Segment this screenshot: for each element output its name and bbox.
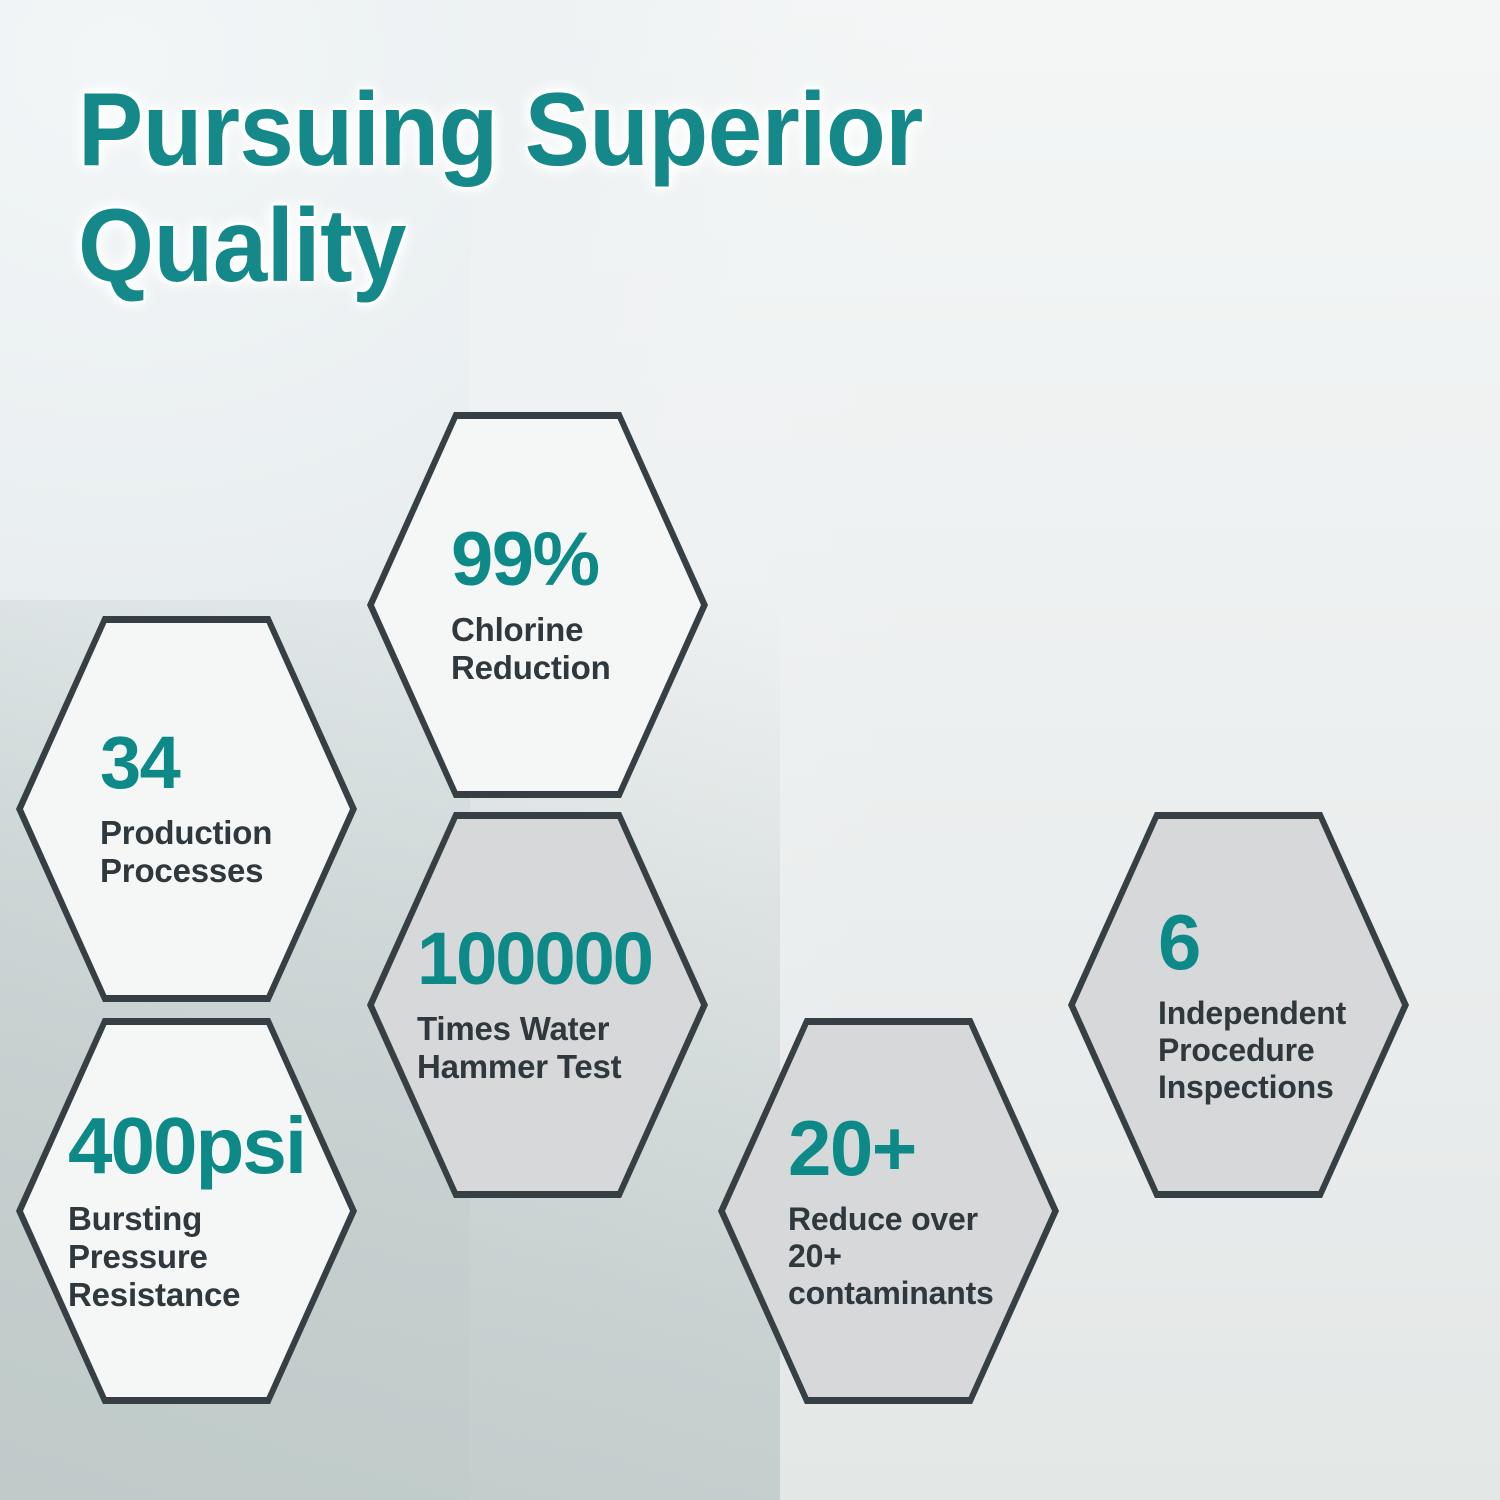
hexagon-content: 20+ Reduce over 20+ contaminants xyxy=(718,1018,1059,1404)
stat-number: 99% xyxy=(409,523,666,597)
stat-number: 400psi xyxy=(58,1107,315,1185)
stat-label: Bursting Pressure Resistance xyxy=(58,1200,315,1315)
stat-label: Chlorine Reduction xyxy=(409,611,666,688)
infographic-canvas: Pursuing Superior Quality 34 Production … xyxy=(0,0,1500,1500)
stat-number: 34 xyxy=(58,727,315,800)
hexagon-content: 34 Production Processes xyxy=(16,616,357,1002)
stat-hexagon-production-processes[interactable]: 34 Production Processes xyxy=(16,616,357,1002)
stat-hexagon-water-hammer-test[interactable]: 100000 Times Water Hammer Test xyxy=(367,812,708,1198)
stat-hexagon-bursting-pressure[interactable]: 400psi Bursting Pressure Resistance xyxy=(16,1018,357,1404)
hexagon-content: 99% Chlorine Reduction xyxy=(367,412,708,798)
stat-label: Production Processes xyxy=(58,814,315,891)
hexagon-content: 400psi Bursting Pressure Resistance xyxy=(16,1018,357,1404)
stat-number: 100000 xyxy=(409,923,666,996)
stat-hexagon-group: 34 Production Processes 99% Chlorine Red… xyxy=(0,0,1500,1500)
stat-label: Independent Procedure Inspections xyxy=(1110,995,1367,1106)
stat-hexagon-contaminants[interactable]: 20+ Reduce over 20+ contaminants xyxy=(718,1018,1059,1404)
stat-hexagon-procedure-inspections[interactable]: 6 Independent Procedure Inspections xyxy=(1068,812,1409,1198)
stat-label: Times Water Hammer Test xyxy=(409,1010,666,1087)
stat-number: 6 xyxy=(1110,904,1367,980)
hexagon-content: 100000 Times Water Hammer Test xyxy=(367,812,708,1198)
stat-label: Reduce over 20+ contaminants xyxy=(760,1201,1017,1312)
hexagon-content: 6 Independent Procedure Inspections xyxy=(1068,812,1409,1198)
stat-number: 20+ xyxy=(760,1110,1017,1186)
stat-hexagon-chlorine-reduction[interactable]: 99% Chlorine Reduction xyxy=(367,412,708,798)
